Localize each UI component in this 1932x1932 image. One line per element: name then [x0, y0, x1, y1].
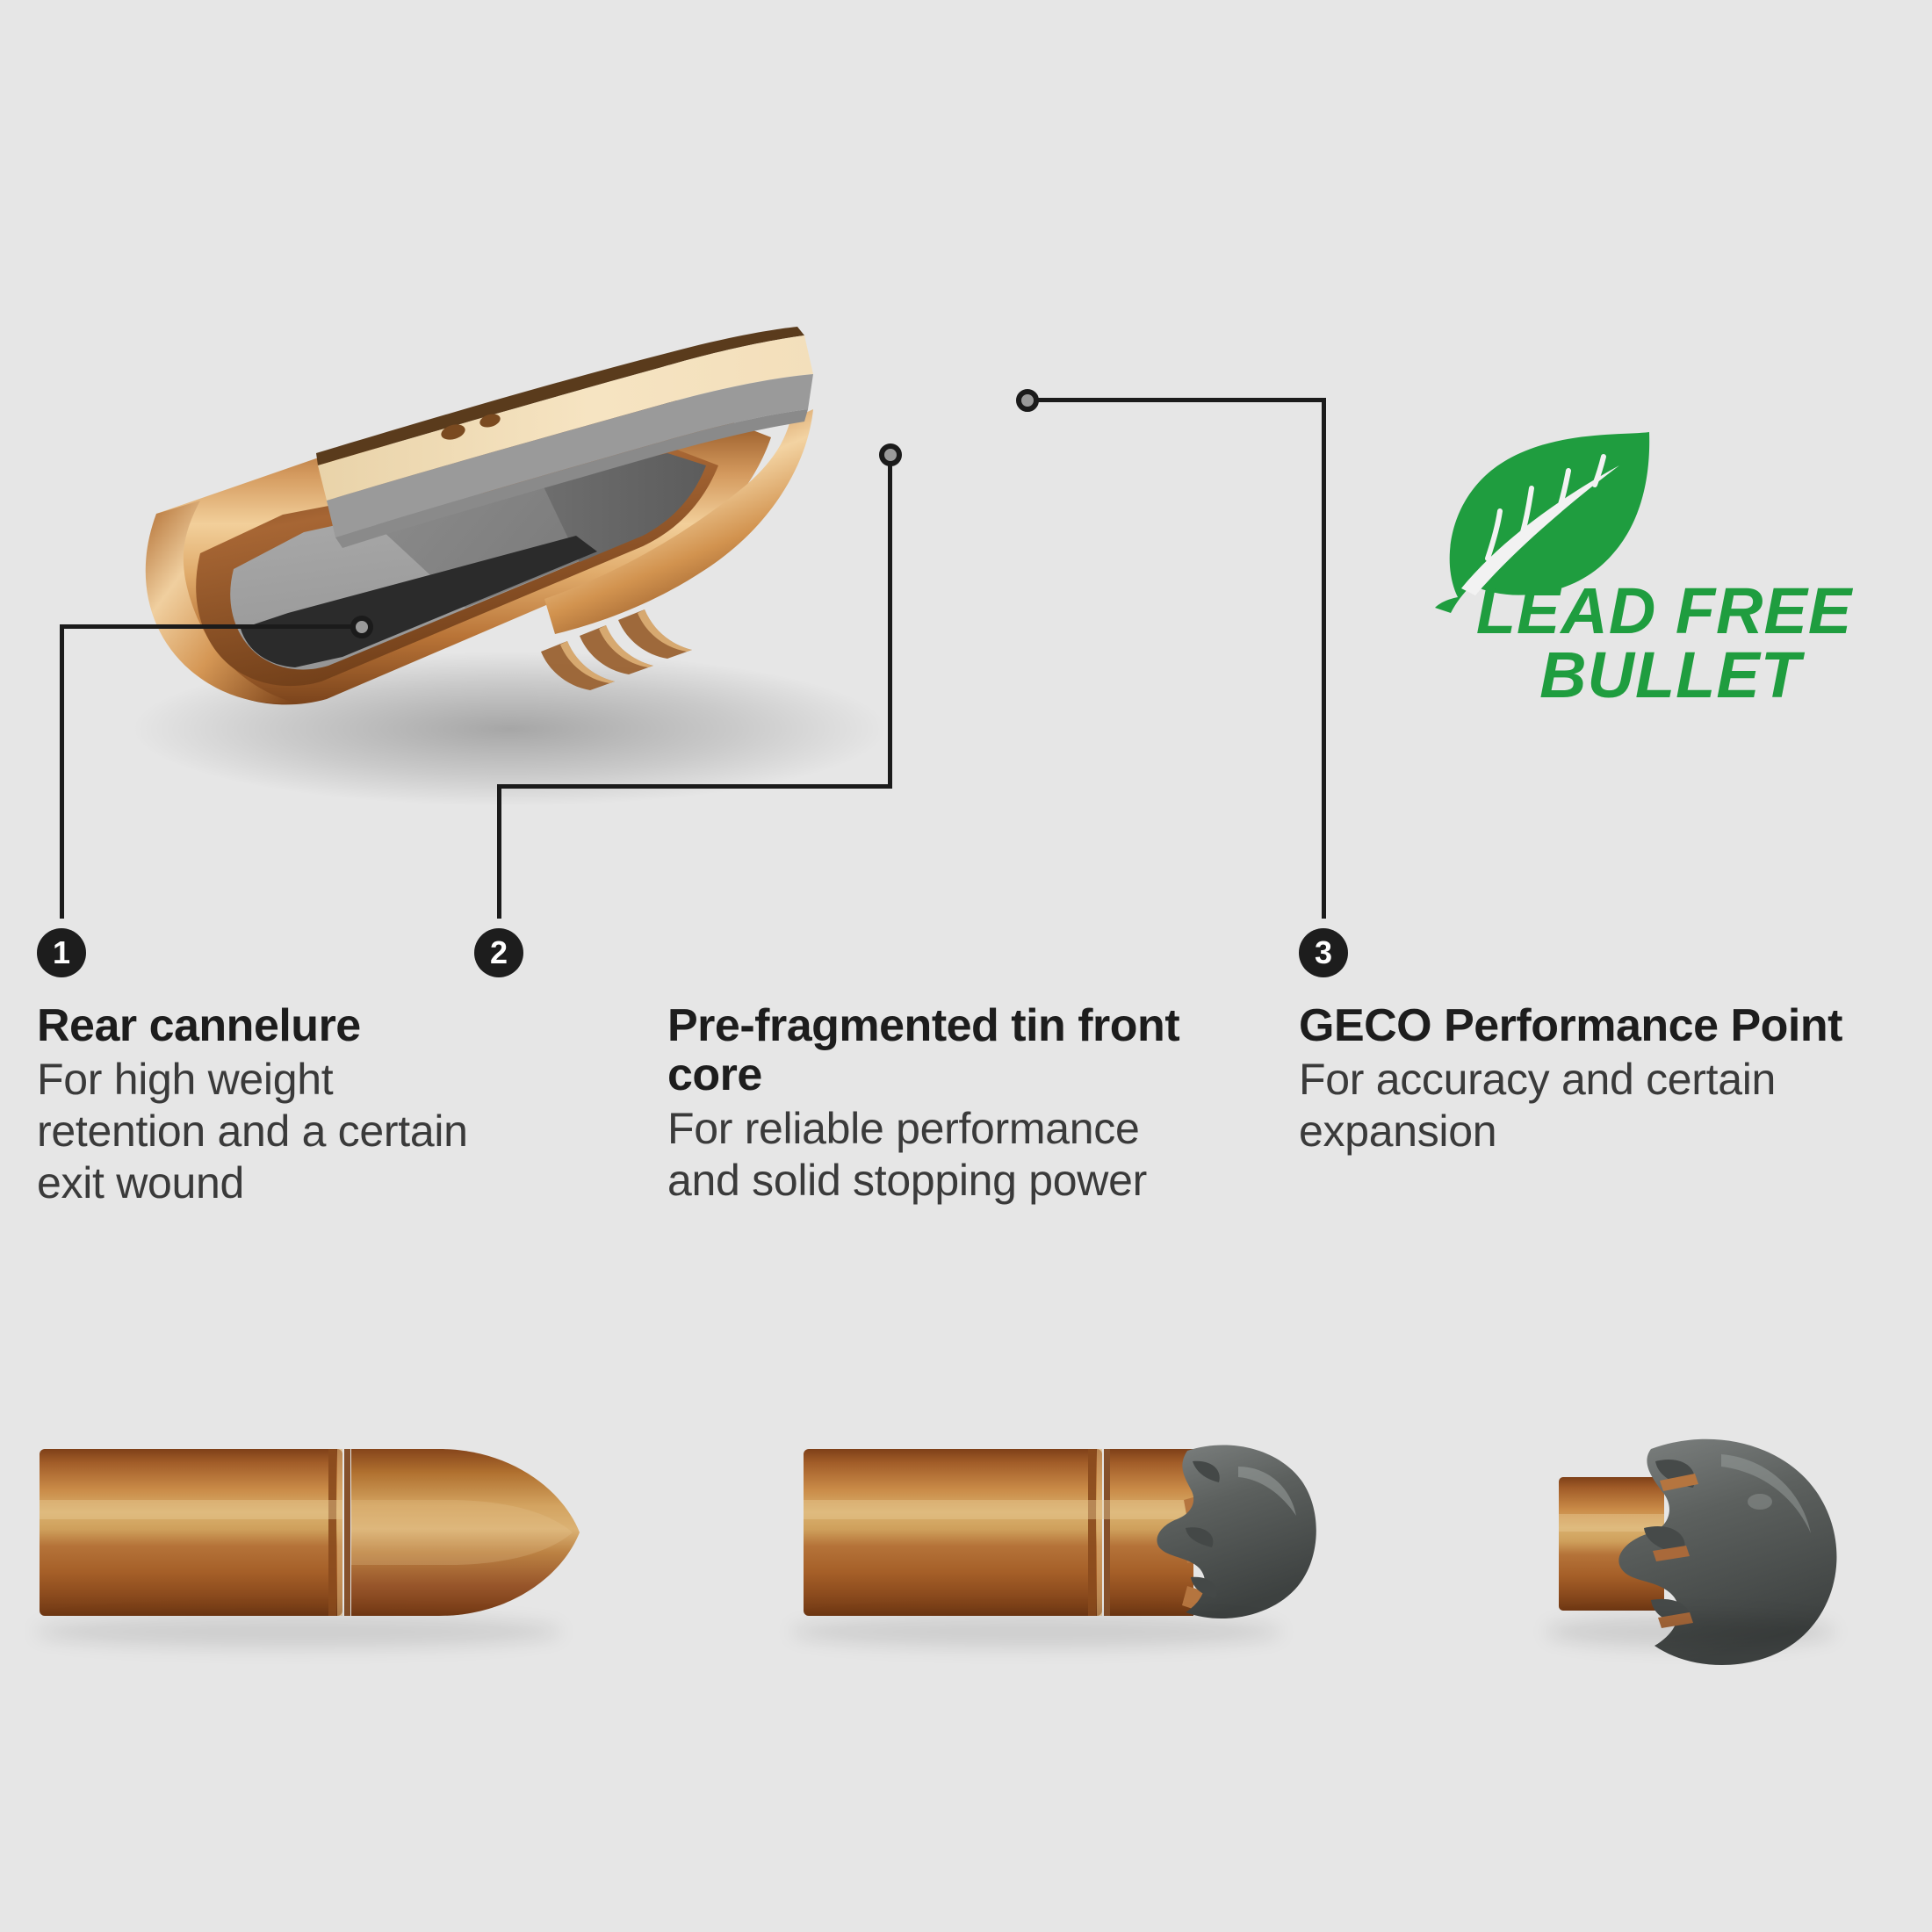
callout-marker-2: 2 — [474, 928, 523, 977]
leader-line-2-vertical-upper — [888, 465, 892, 787]
callout-2-title: Pre-fragmented tin front core — [667, 1001, 1194, 1099]
callout-marker-3: 3 — [1299, 928, 1348, 977]
callout-3-title: GECO Performance Point — [1299, 1001, 1914, 1050]
callout-1-title: Rear cannelure — [37, 1001, 511, 1050]
callout-1-description: For high weight retention and a certain … — [37, 1054, 511, 1209]
bullet-partially-expanded — [804, 1445, 1316, 1618]
leader-line-1-vertical — [60, 624, 64, 919]
leader-line-1-horizontal — [60, 624, 354, 629]
bullet-unfired — [40, 1449, 580, 1616]
bullet-cutaway-illustration — [53, 202, 1089, 843]
anchor-point-2 — [879, 443, 902, 466]
callout-marker-1: 1 — [37, 928, 86, 977]
leader-line-3-horizontal — [1036, 398, 1326, 402]
callout-3: GECO Performance Point For accuracy and … — [1299, 1001, 1914, 1157]
lead-free-bullet-text: LEAD FREE BULLET — [1431, 580, 1897, 707]
callout-2: Pre-fragmented tin front core For reliab… — [667, 1001, 1194, 1207]
lead-free-bullet-badge: LEAD FREE BULLET — [1431, 430, 1897, 738]
callout-1: Rear cannelure For high weight retention… — [37, 1001, 511, 1209]
leader-line-2-horizontal — [497, 784, 892, 789]
badge-line-2: BULLET — [1431, 644, 1897, 708]
expansion-sequence — [0, 1396, 1932, 1686]
callout-2-description: For reliable performance and solid stopp… — [667, 1103, 1194, 1207]
leader-line-2-vertical-lower — [497, 784, 501, 919]
badge-line-1: LEAD FREE — [1431, 580, 1897, 644]
callout-3-description: For accuracy and certain expansion — [1299, 1054, 1914, 1157]
leader-line-3-vertical — [1322, 398, 1326, 919]
infographic-canvas: 1 2 3 Rear cannelure For high weight ret… — [0, 0, 1932, 1932]
